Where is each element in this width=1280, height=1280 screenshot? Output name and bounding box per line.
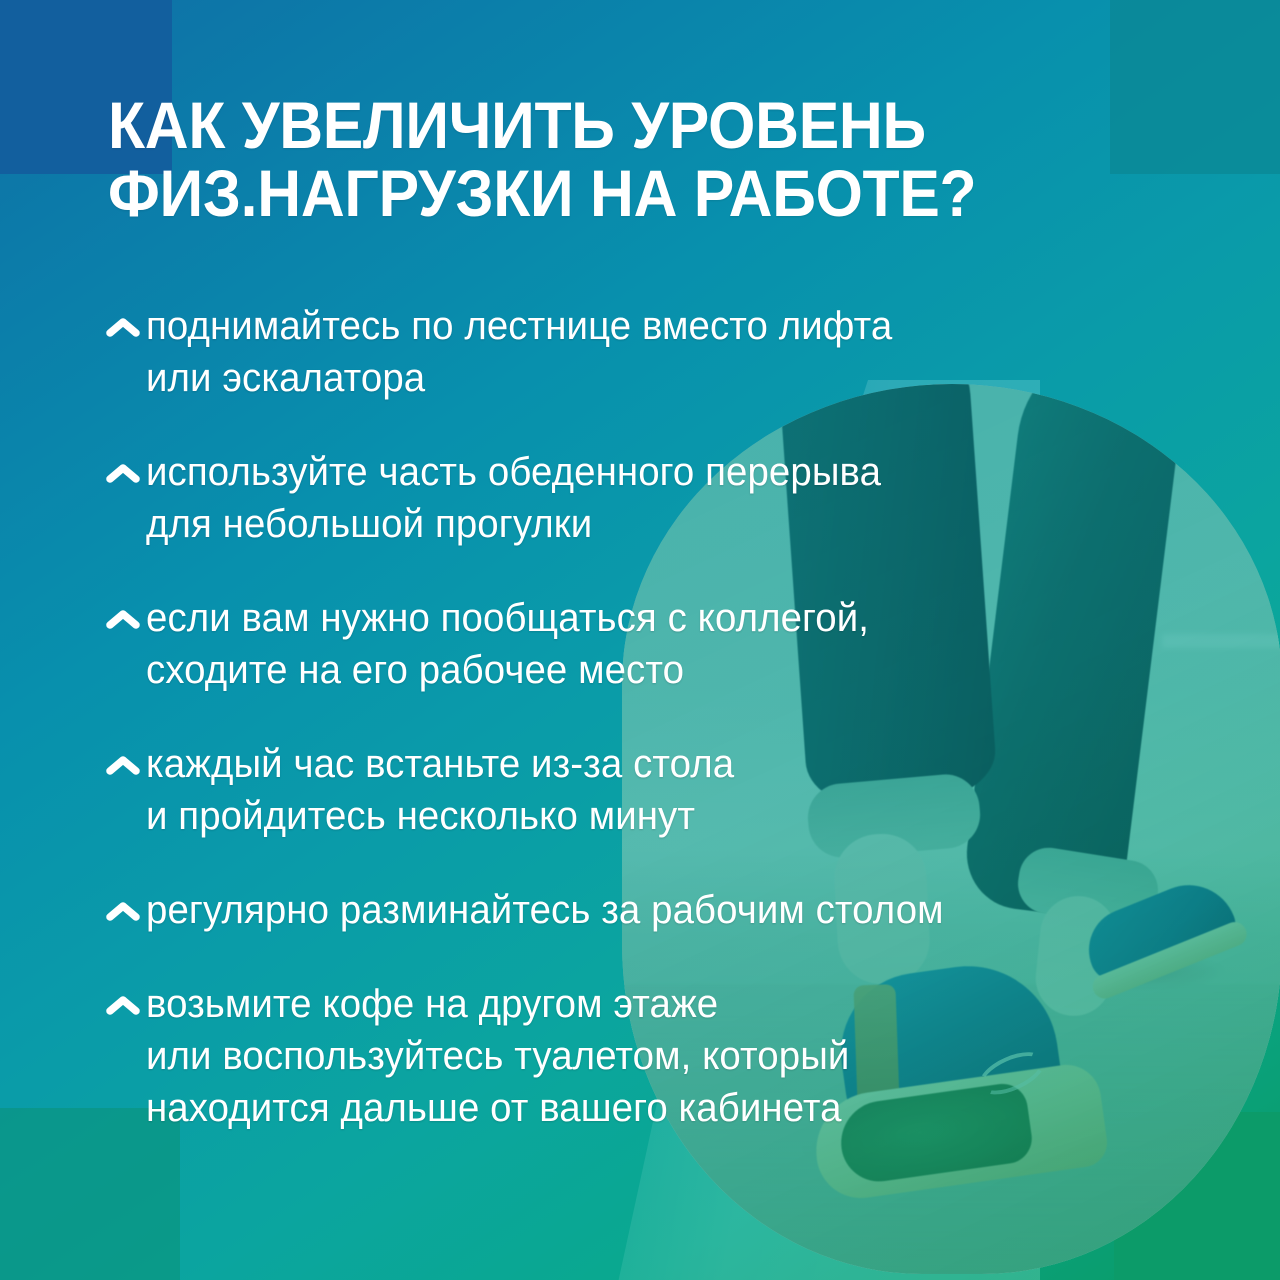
page-title-line-2: ФИЗ.НАГРУЗКИ НА РАБОТЕ?	[108, 160, 1037, 228]
list-item: регулярно разминайтесь за рабочим столом	[100, 884, 1180, 936]
page-title: КАК УВЕЛИЧИТЬ УРОВЕНЬ ФИЗ.НАГРУЗКИ НА РА…	[108, 92, 1037, 228]
tips-list: поднимайтесь по лестнице вместо лифта ил…	[100, 300, 1180, 1134]
list-item-label: регулярно разминайтесь за рабочим столом	[146, 884, 944, 936]
chevron-up-icon	[100, 300, 146, 338]
list-item: если вам нужно пообщаться с коллегой, сх…	[100, 592, 1180, 696]
list-item: возьмите кофе на другом этаже или воспол…	[100, 978, 1180, 1134]
list-item-label: если вам нужно пообщаться с коллегой, сх…	[146, 592, 869, 696]
poster-content: КАК УВЕЛИЧИТЬ УРОВЕНЬ ФИЗ.НАГРУЗКИ НА РА…	[0, 0, 1280, 1280]
list-item-label: используйте часть обеденного перерыва дл…	[146, 446, 881, 550]
chevron-up-icon	[100, 738, 146, 776]
page-title-line-1: КАК УВЕЛИЧИТЬ УРОВЕНЬ	[108, 92, 1037, 160]
list-item: используйте часть обеденного перерыва дл…	[100, 446, 1180, 550]
chevron-up-icon	[100, 592, 146, 630]
list-item-label: возьмите кофе на другом этаже или воспол…	[146, 978, 849, 1134]
poster-canvas: КАК УВЕЛИЧИТЬ УРОВЕНЬ ФИЗ.НАГРУЗКИ НА РА…	[0, 0, 1280, 1280]
chevron-up-icon	[100, 446, 146, 484]
chevron-up-icon	[100, 884, 146, 922]
list-item: поднимайтесь по лестнице вместо лифта ил…	[100, 300, 1180, 404]
list-item: каждый час встаньте из-за стола и пройди…	[100, 738, 1180, 842]
list-item-label: поднимайтесь по лестнице вместо лифта ил…	[146, 300, 892, 404]
chevron-up-icon	[100, 978, 146, 1016]
list-item-label: каждый час встаньте из-за стола и пройди…	[146, 738, 734, 842]
